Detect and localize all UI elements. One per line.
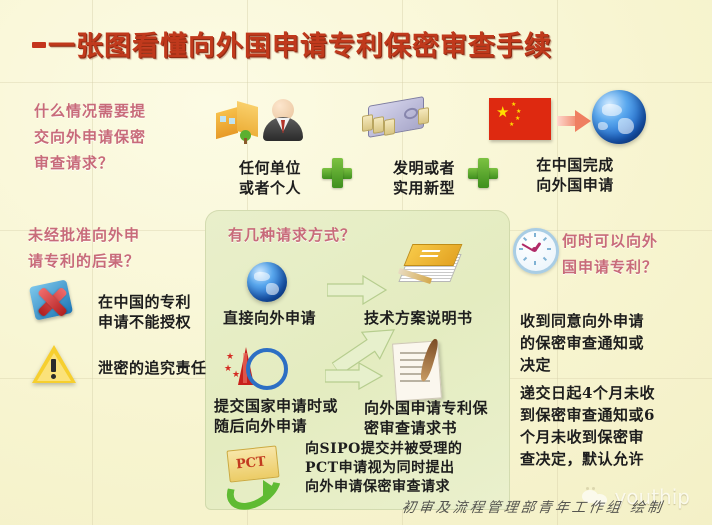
timing1-line3: 决定 — [520, 354, 700, 376]
arrow-right-icon — [557, 110, 591, 132]
pale-arrow-3-icon — [325, 362, 383, 390]
specification-book-icon — [398, 240, 460, 292]
globe-small-icon — [247, 262, 287, 302]
question-consequences: 未经批准向外申 请专利的后果？ — [28, 222, 213, 274]
method-direct-label: 直接向外申请 — [223, 308, 353, 328]
title-dash — [32, 42, 46, 48]
question2-line1: 未经批准向外申 — [28, 222, 213, 248]
condition1-line1: 任何单位 — [228, 158, 312, 178]
timing1-line2: 的保密审查通知或 — [520, 332, 700, 354]
warning-triangle-icon — [32, 345, 76, 385]
consequence-no-grant: 在中国的专利 申请不能授权 — [98, 292, 218, 332]
timing-condition-2: 递交日起4个月未收 到保密审查通知或6 个月未收到保密审 查决定，默认允许 — [520, 382, 705, 470]
condition2-line1: 发明或者 — [382, 158, 466, 178]
question1-line1: 什么情况需要提 — [34, 98, 209, 124]
infographic-canvas: 一张图看懂向外国申请专利保密审查手续 什么情况需要提 交向外申请保密 审查请求？… — [0, 0, 712, 525]
timing2-line3: 个月未收到保密审 — [520, 426, 705, 448]
globe-icon — [592, 90, 646, 144]
title-bar: 一张图看懂向外国申请专利保密审查手续 — [0, 22, 712, 68]
timing2-line1: 递交日起4个月未收 — [520, 382, 705, 404]
consequence1-line1: 在中国的专利 — [98, 292, 218, 312]
consequence1-line2: 申请不能授权 — [98, 312, 218, 332]
page-title: 一张图看懂向外国申请专利保密审查手续 — [48, 24, 552, 63]
question4-line2: 国申请专利？ — [562, 254, 712, 280]
pct-line1: 向SIPO提交并被受理的 — [305, 440, 510, 459]
condition2-line2: 实用新型 — [382, 178, 466, 198]
question1-line3: 审查请求？ — [34, 150, 209, 176]
question4-line1: 何时可以向外 — [562, 228, 712, 254]
timing2-line4: 查决定，默认允许 — [520, 448, 705, 470]
method2-result-line2: 密审查请求书 — [364, 418, 514, 438]
question-when-required: 什么情况需要提 交向外申请保密 审查请求？ — [34, 98, 209, 176]
pct-line3: 向外申请保密审查请求 — [305, 478, 510, 497]
condition1-line2: 或者个人 — [228, 178, 312, 198]
method2-line2: 随后向外申请 — [214, 416, 364, 436]
plus-icon-2 — [468, 158, 498, 188]
pct-line2: PCT申请视为同时提出 — [305, 459, 510, 478]
rejected-x-icon — [30, 281, 74, 323]
consequence-liability: 泄密的追究责任 — [98, 358, 238, 378]
condition-invention: 发明或者 实用新型 — [382, 158, 466, 198]
question-timing: 何时可以向外 国申请专利？ — [562, 228, 712, 280]
method-national-result: 向外国申请专利保 密审查请求书 — [364, 398, 514, 438]
chip-icon — [358, 95, 430, 141]
condition3-line2: 向外国申请 — [510, 175, 640, 195]
person-icon — [263, 97, 303, 141]
china-flag-icon: ★ ★ ★ ★ ★ — [489, 98, 551, 140]
method-national-label: 提交国家申请时或 随后向外申请 — [214, 396, 364, 436]
question1-line2: 交向外申请保密 — [34, 124, 209, 150]
request-document-icon — [390, 340, 454, 402]
building-icon — [214, 100, 260, 144]
clock-icon — [513, 228, 559, 274]
plus-icon-1 — [322, 158, 352, 188]
timing2-line2: 到保密审查通知或6 — [520, 404, 705, 426]
pct-envelope-icon: PCT — [222, 448, 284, 496]
question2-line2: 请专利的后果？ — [28, 248, 213, 274]
pct-note: 向SIPO提交并被受理的 PCT申请视为同时提出 向外申请保密审查请求 — [305, 440, 510, 497]
timing-condition-1: 收到同意向外申请 的保密审查通知或 决定 — [520, 310, 700, 376]
condition-filing-abroad: 在中国完成 向外国申请 — [510, 155, 640, 195]
method2-result-line1: 向外国申请专利保 — [364, 398, 514, 418]
timing1-line1: 收到同意向外申请 — [520, 310, 700, 332]
condition-applicant: 任何单位 或者个人 — [228, 158, 312, 198]
signature-credit: 初审及流程管理部青年工作组 绘制 — [401, 497, 666, 517]
condition3-line1: 在中国完成 — [510, 155, 640, 175]
